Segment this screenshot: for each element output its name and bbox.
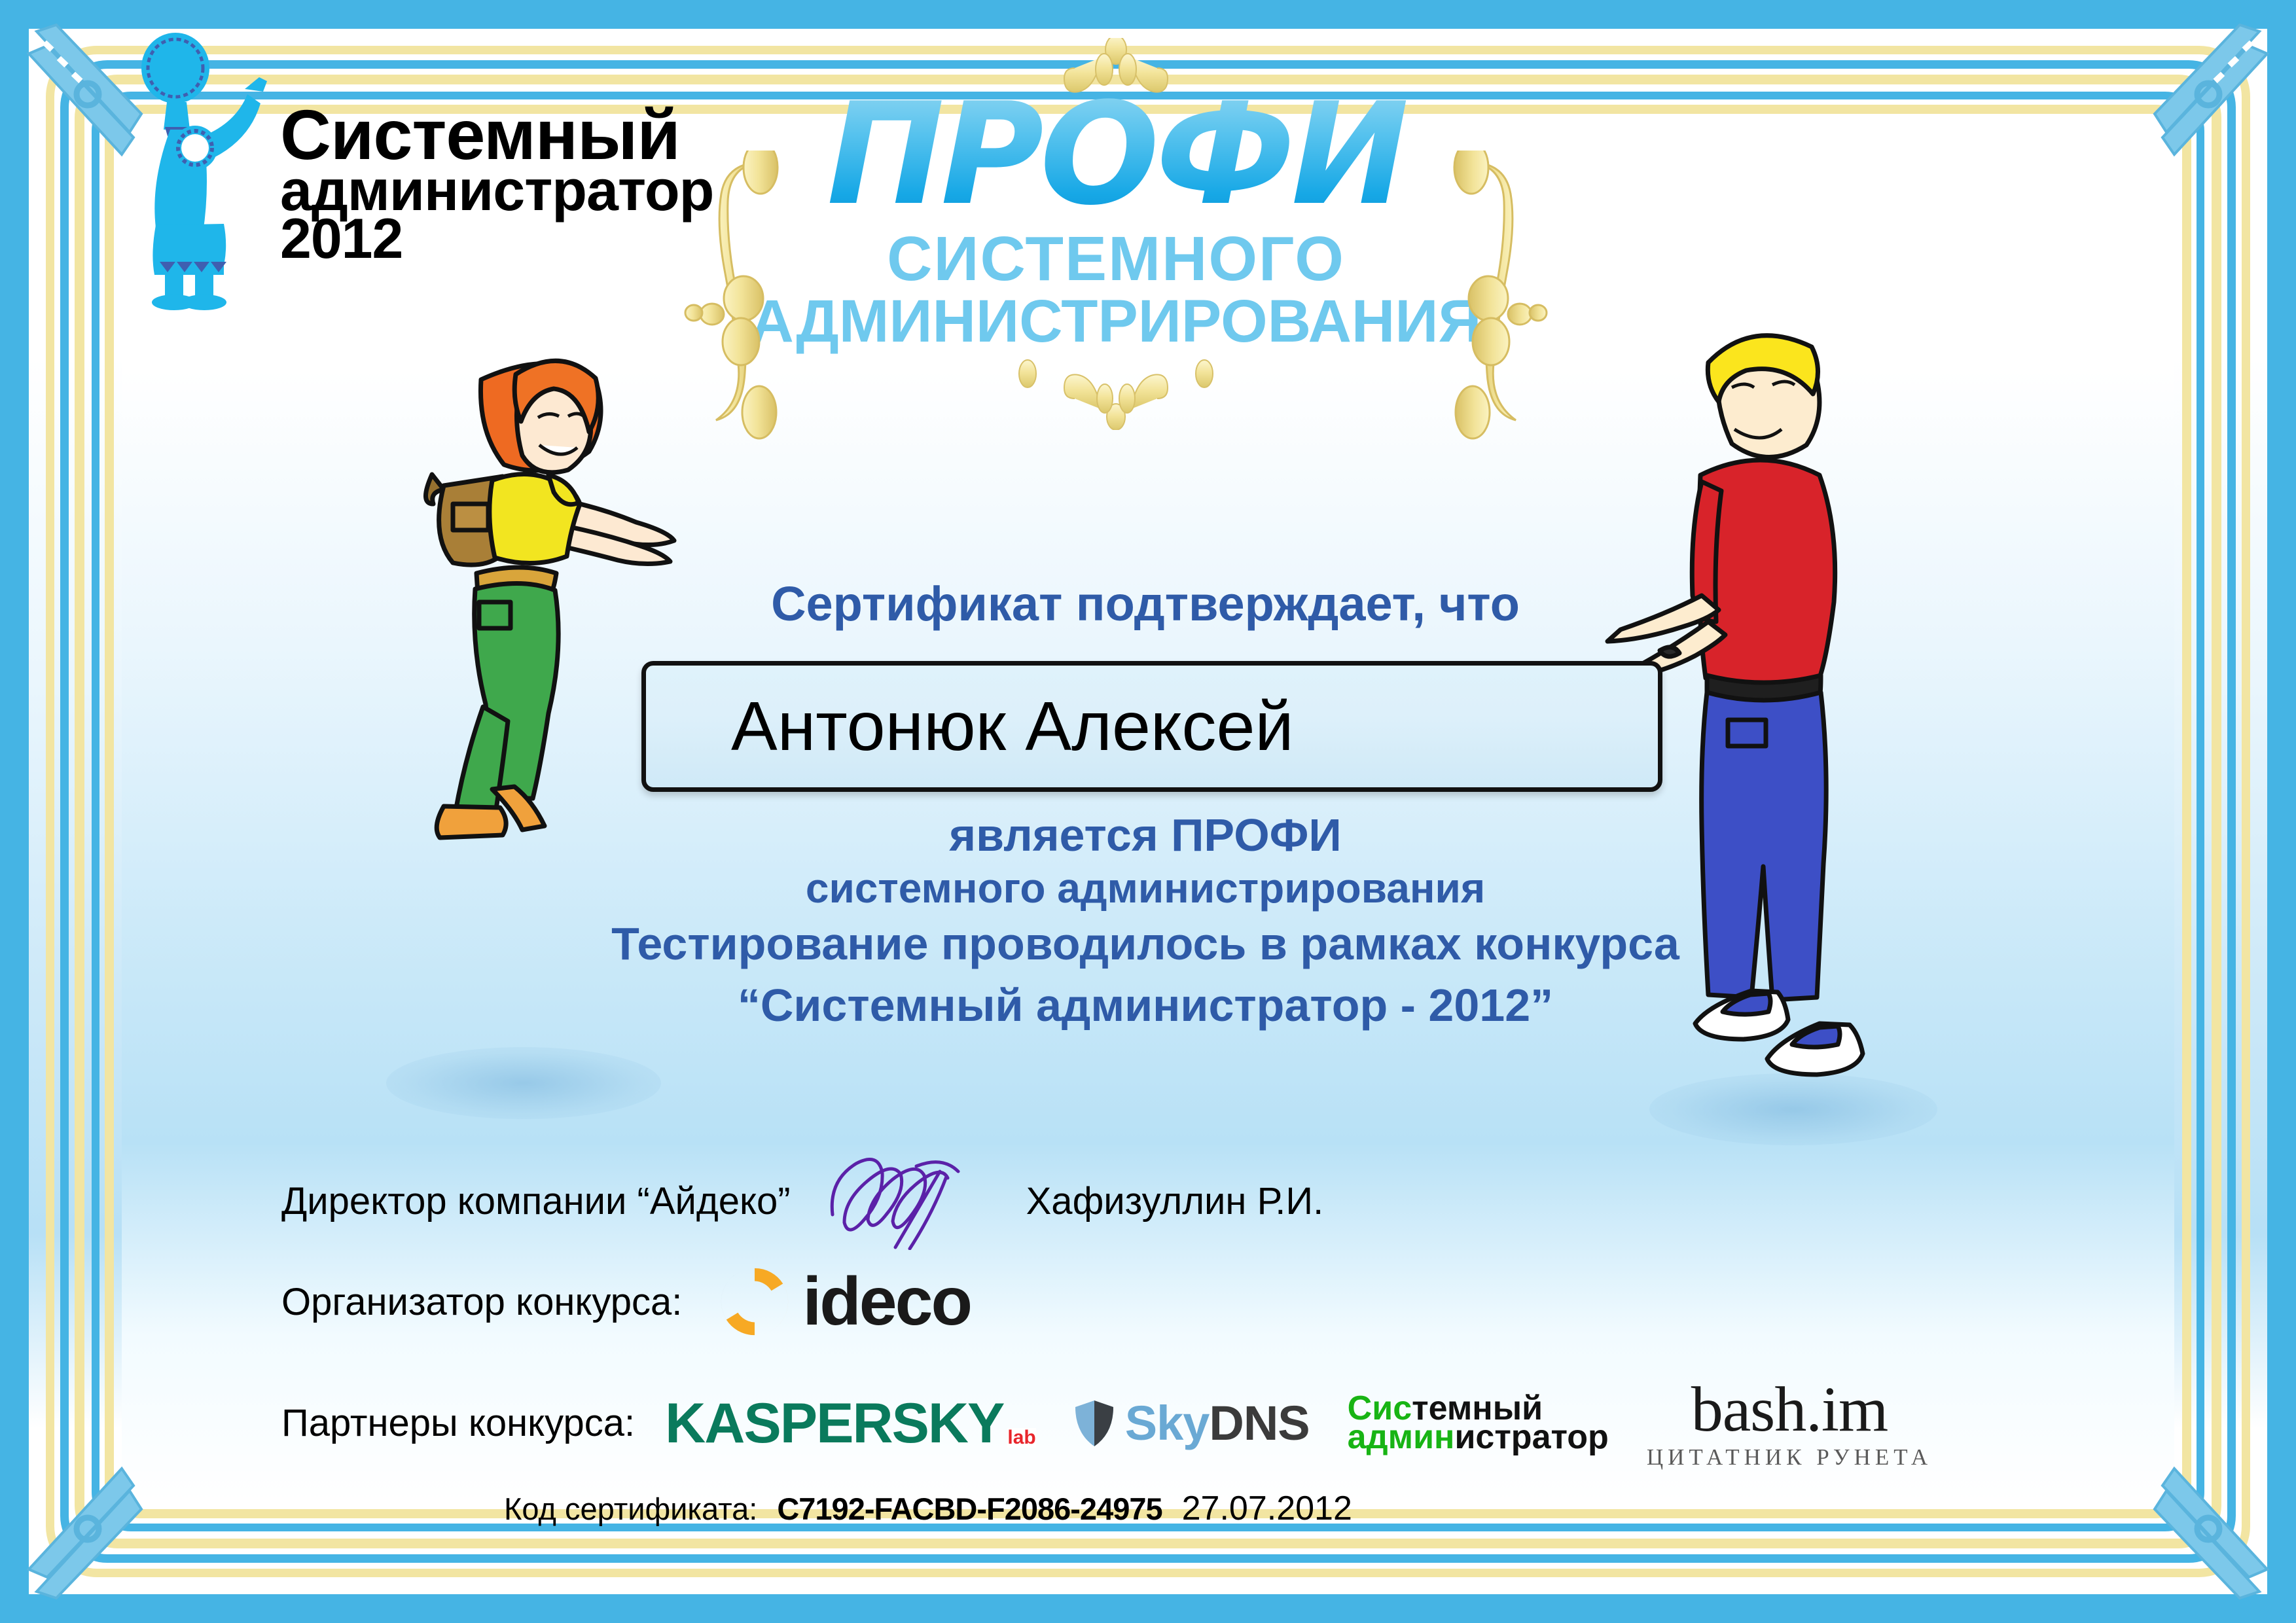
eskimo-mascot-icon: [105, 31, 288, 319]
director-label: Директор компании “Айдеко”: [281, 1179, 791, 1223]
partners-row: Партнеры конкурса: KASPERSKY lab SkyDNS …: [281, 1378, 2147, 1469]
kaspersky-logo: KASPERSKY lab: [665, 1395, 1036, 1452]
bashim-wordmark: bash.im: [1647, 1378, 1932, 1442]
sysadmin-small-black-2: истратор: [1454, 1418, 1608, 1456]
issue-date: 27.07.2012: [1182, 1489, 1352, 1528]
signature-row: Директор компании “Айдеко” Хафизуллин Р.…: [281, 1152, 1460, 1250]
director-name: Хафизуллин Р.И.: [1026, 1179, 1324, 1223]
sysadmin-line-1: Системный: [280, 105, 673, 166]
code-label: Код сертификата:: [504, 1491, 757, 1527]
certificate-confirm-text: Сертификат подтверждает, что: [655, 576, 1636, 632]
ideco-logo: ideco: [716, 1263, 971, 1340]
code-value: C7192-FACBD-F2086-24975: [777, 1491, 1162, 1527]
skydns-wordmark: SkyDNS: [1125, 1399, 1310, 1448]
profi-title: ПРОФИ: [694, 84, 1538, 224]
profi-subtitle-line-2: АДМИНИСТРИРОВАНИЯ: [694, 291, 1538, 353]
skydns-dns: DNS: [1209, 1396, 1309, 1450]
organizer-label: Организатор конкурса:: [281, 1280, 682, 1324]
ideco-wordmark: ideco: [802, 1268, 971, 1336]
body-line-4: “Системный администратор - 2012”: [589, 974, 1702, 1037]
profi-subtitle-line-1: СИСТЕМНОГО: [694, 227, 1538, 291]
crimping-tool-icon: [2109, 16, 2279, 186]
body-line-1: является ПРОФИ: [589, 808, 1702, 863]
certificate-code-row: Код сертификата: C7192-FACBD-F2086-24975…: [504, 1489, 1352, 1528]
gold-flourish-bottom-icon: [1008, 345, 1224, 430]
kaspersky-lab-tag: lab: [1007, 1428, 1035, 1448]
skydns-logo: SkyDNS: [1074, 1399, 1310, 1448]
sysadmin-2012-logo: Системный администратор 2012: [98, 26, 674, 366]
recipient-nameplate: Антонюк Алексей: [641, 661, 1662, 792]
skydns-sky: Sky: [1125, 1396, 1210, 1450]
ideco-swirl-icon: [716, 1263, 793, 1340]
recipient-name: Антонюк Алексей: [731, 687, 1294, 766]
sysadmin-small-line-2: администратор: [1348, 1423, 1609, 1452]
sysadmin-small-green-2: админ: [1348, 1418, 1455, 1456]
sysadmin-logo-text: Системный администратор 2012: [280, 105, 673, 264]
crimping-tool-icon: [17, 1437, 187, 1607]
bashim-logo: bash.im ЦИТАТНИК РУНЕТА: [1647, 1378, 1932, 1469]
bashim-tagline: ЦИТАТНИК РУНЕТА: [1647, 1446, 1932, 1469]
profi-title-block: ПРОФИ СИСТЕМНОГО АДМИНИСТРИРОВАНИЯ: [694, 65, 1538, 353]
partner-logos: KASPERSKY lab SkyDNS Системный администр…: [665, 1378, 1932, 1469]
sysadmin-magazine-logo: Системный администратор: [1348, 1395, 1609, 1452]
certificate-page: Системный администратор 2012: [0, 0, 2296, 1623]
body-line-3: Тестирование проводилось в рамках конкур…: [589, 914, 1702, 974]
certificate-body-text: является ПРОФИ системного администрирова…: [589, 808, 1702, 1037]
partners-label: Партнеры конкурса:: [281, 1401, 635, 1445]
shield-icon: [1074, 1399, 1115, 1448]
signature-icon: [818, 1152, 995, 1250]
kaspersky-wordmark: KASPERSKY: [665, 1395, 1003, 1452]
body-line-2: системного администрирования: [589, 863, 1702, 914]
organizer-row: Организатор конкурса: ideco: [281, 1263, 1198, 1340]
